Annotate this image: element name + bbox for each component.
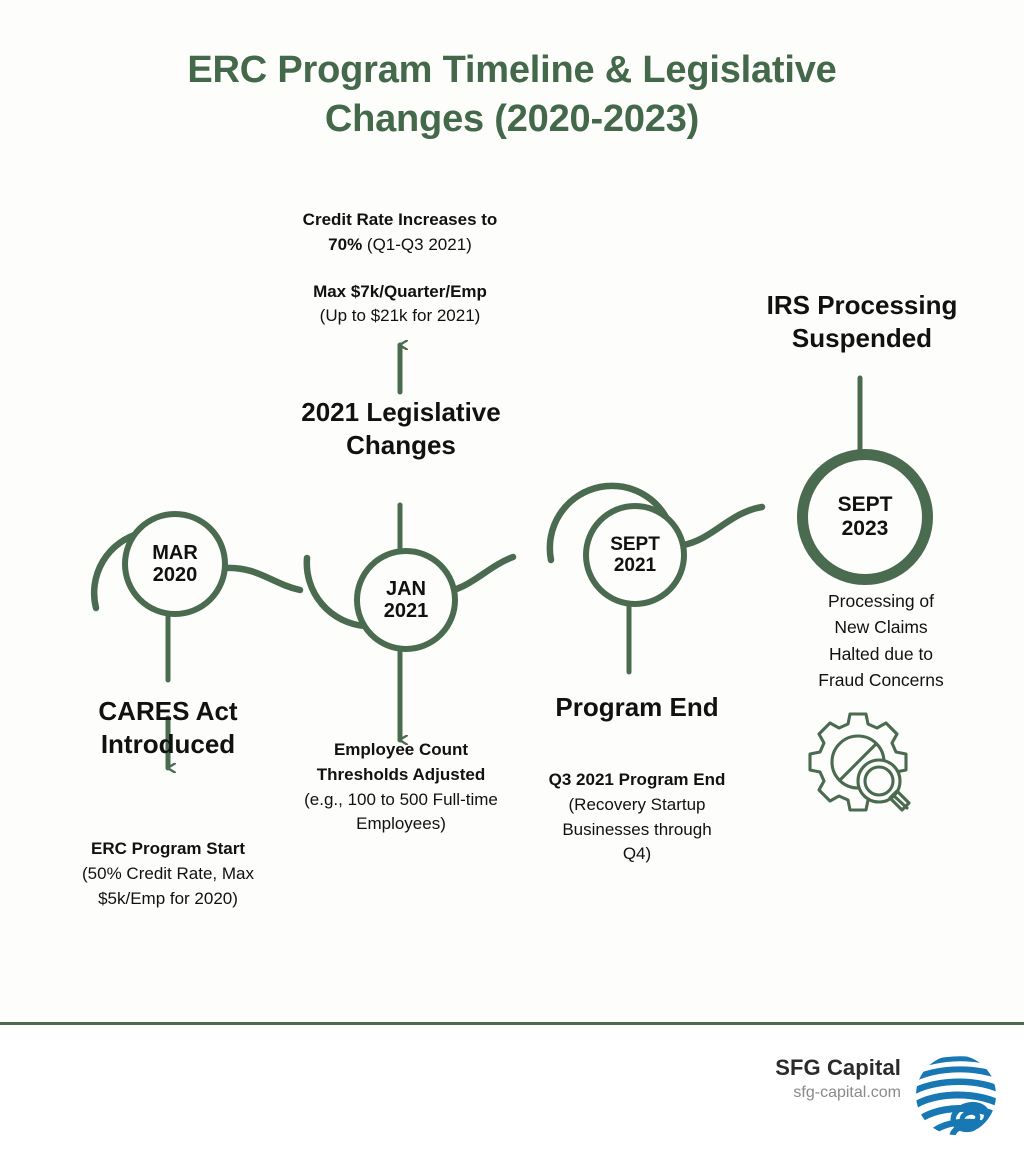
employee-count-line1: (e.g., 100 to 500 Full-time [272,788,530,813]
irs-heading: IRS Processing Suspended [722,289,1002,355]
program-end-heading-text: Program End [509,691,765,724]
page-title-line2: Changes (2020-2023) [62,95,962,144]
footer-divider [0,1022,1024,1025]
program-end-detail: Q3 2021 Program End (Recovery Startup Bu… [519,768,755,867]
employee-count-bold-line1: Employee Count [334,740,468,759]
max-credit-note: (Up to $21k for 2021) [320,306,481,325]
credit-rate-callout: Credit Rate Increases to 70% (Q1-Q3 2021… [258,208,542,329]
page-title-line1: ERC Program Timeline & Legislative [62,46,962,95]
irs-detail-line1: Processing of [760,588,1002,614]
node-mar-2020-line1: MAR [152,542,198,564]
timeline-node-sept-2023[interactable]: SEPT 2023 [797,449,933,585]
brand-name: SFG Capital [775,1055,901,1081]
program-end-heading: Program End [509,691,765,724]
max-credit-line: Max $7k/Quarter/Emp [313,282,487,301]
legislative-heading: 2021 Legislative Changes [262,396,540,462]
node-mar-2020-line2: 2020 [152,564,198,586]
credit-rate-line1: Credit Rate Increases to [303,210,498,229]
node-jan-2021-line2: 2021 [384,600,429,622]
node-sept-2023-line1: SEPT [838,493,893,517]
employee-count-detail: Employee Count Thresholds Adjusted (e.g.… [272,738,530,837]
irs-detail: Processing of New Claims Halted due to F… [760,588,1002,693]
node-jan-2021-line1: JAN [384,578,429,600]
program-end-detail-bold: Q3 2021 Program End [549,770,726,789]
brand-block: SFG Capital sfg-capital.com [775,1055,901,1102]
cares-heading-line2: Introduced [44,728,292,761]
brand-url[interactable]: sfg-capital.com [775,1084,901,1102]
legislative-heading-line2: Changes [262,429,540,462]
irs-detail-line4: Fraud Concerns [760,667,1002,693]
irs-detail-line3: Halted due to [760,641,1002,667]
program-end-detail-line3: Q4) [519,842,755,867]
cares-heading-line1: CARES Act [44,695,292,728]
irs-detail-line2: New Claims [760,614,1002,640]
infographic-canvas: ERC Program Timeline & Legislative Chang… [0,0,1024,1154]
credit-rate-period: (Q1-Q3 2021) [362,235,472,254]
program-end-detail-line2: Businesses through [519,818,755,843]
node-sept-2023-line2: 2023 [838,517,893,541]
timeline-node-mar-2020[interactable]: MAR 2020 [122,511,228,617]
legislative-heading-line1: 2021 Legislative [262,396,540,429]
cares-detail-line2: $5k/Emp for 2020) [44,887,292,912]
node-sept-2021-line2: 2021 [610,555,660,576]
cares-detail-bold: ERC Program Start [91,839,245,858]
node-sept-2021-line1: SEPT [610,534,660,555]
cares-detail-line1: (50% Credit Rate, Max [44,862,292,887]
timeline-node-sept-2021[interactable]: SEPT 2021 [583,503,687,607]
employee-count-line2: Employees) [272,812,530,837]
globe-logo [912,1051,1000,1139]
employee-count-bold-line2: Thresholds Adjusted [317,765,485,784]
program-end-detail-line1: (Recovery Startup [519,793,755,818]
timeline-node-jan-2021[interactable]: JAN 2021 [354,548,458,652]
page-title: ERC Program Timeline & Legislative Chang… [62,46,962,143]
cares-detail: ERC Program Start (50% Credit Rate, Max … [44,837,292,911]
credit-rate-pct: 70% [328,235,362,254]
irs-heading-line2: Suspended [722,322,1002,355]
cares-heading: CARES Act Introduced [44,695,292,761]
irs-heading-line1: IRS Processing [722,289,1002,322]
gear-blocked-magnifier-icon [805,708,917,816]
